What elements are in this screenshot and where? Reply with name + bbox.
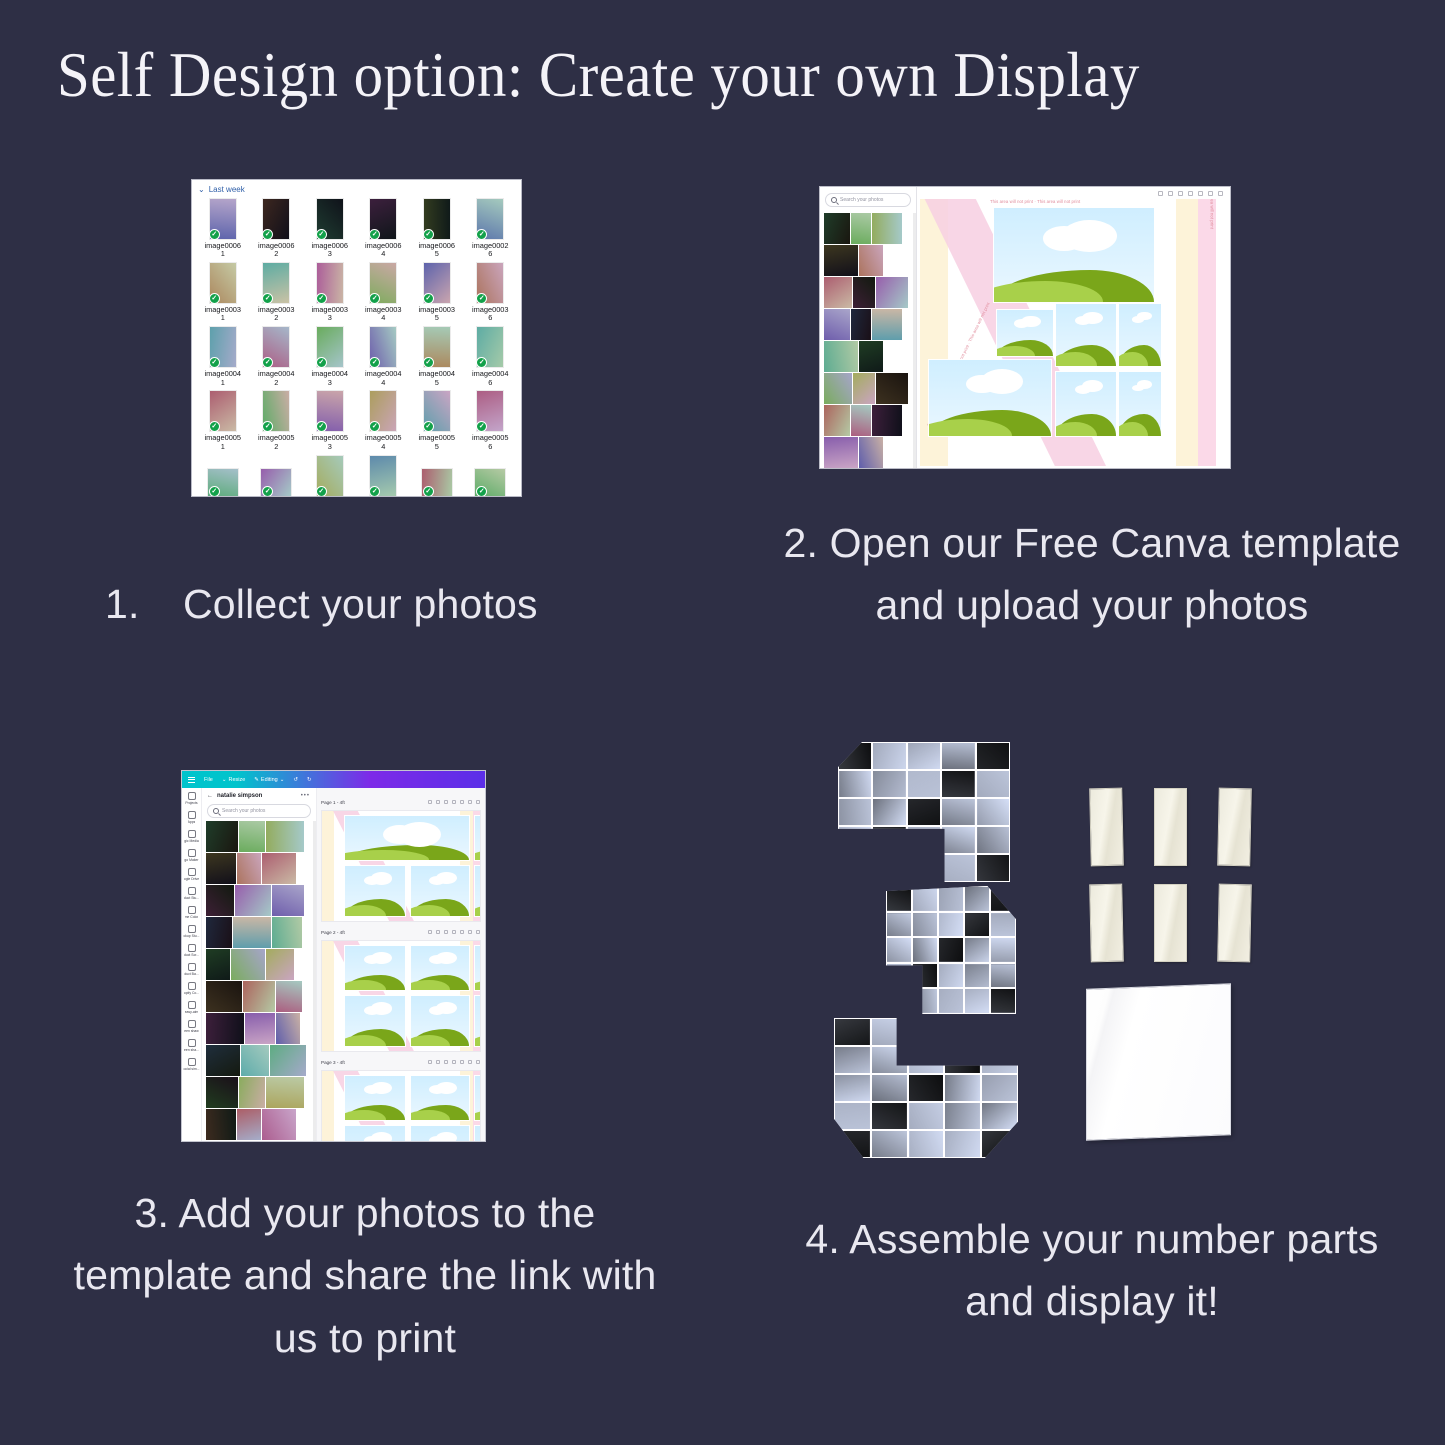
- collage-photo: [834, 1046, 871, 1074]
- photo-index: 4: [381, 314, 385, 323]
- photo-frame-placeholder[interactable]: [344, 865, 406, 917]
- thumbnail-wrapper[interactable]: [208, 261, 238, 303]
- thumbnail-wrapper[interactable]: [368, 454, 398, 496]
- uploaded-photo-thumbnail[interactable]: [851, 405, 871, 436]
- photo-grid-item[interactable]: image00042: [250, 325, 304, 387]
- page-toolbar[interactable]: [428, 930, 480, 934]
- rail-item[interactable]: ogle Drive: [182, 868, 201, 881]
- google-drive-icon: [188, 868, 196, 876]
- photo-grid-item[interactable]: image00026: [464, 197, 518, 259]
- thumbnail-wrapper[interactable]: [422, 325, 452, 367]
- photo-frame-placeholder[interactable]: [928, 359, 1052, 437]
- chevron-up-icon[interactable]: [428, 800, 432, 804]
- chevron-down-icon[interactable]: [436, 930, 440, 934]
- uploaded-photo-thumbnail[interactable]: [872, 213, 902, 244]
- photo-grid: image00061image00062image00063image00064…: [192, 196, 521, 497]
- collage-photo: [834, 1018, 871, 1046]
- photo-index: 4: [381, 379, 385, 388]
- uploaded-photo-thumbnail[interactable]: [872, 309, 902, 340]
- uploaded-photo-thumbnail[interactable]: [824, 373, 852, 404]
- lock-icon[interactable]: [452, 1060, 456, 1064]
- thumbnail-wrapper[interactable]: [422, 389, 452, 431]
- cloud-shape: [364, 1006, 380, 1015]
- duplicate-icon[interactable]: [460, 1060, 464, 1064]
- collage-photo: [981, 1046, 1018, 1074]
- photo-frame-placeholder[interactable]: [993, 207, 1155, 303]
- photo-index: 1: [221, 379, 225, 388]
- selected-check-icon: [316, 293, 327, 304]
- thumbnail-wrapper[interactable]: [315, 389, 345, 431]
- photo-frame-placeholder[interactable]: [410, 1125, 470, 1141]
- duplicate-icon[interactable]: [460, 800, 464, 804]
- collage-photo: [938, 886, 964, 912]
- uploaded-photo-thumbnail[interactable]: [233, 917, 271, 948]
- photo-frame-placeholder[interactable]: [1055, 303, 1117, 367]
- collage-photo: [912, 963, 938, 989]
- uploaded-photo-thumbnail[interactable]: [853, 277, 875, 308]
- photo-frame-placeholder[interactable]: [474, 945, 481, 991]
- uploaded-photo-thumbnail[interactable]: [824, 245, 858, 276]
- cloud-shape: [1043, 226, 1085, 250]
- selected-check-icon: [423, 229, 434, 240]
- collage-photo: [834, 1074, 871, 1102]
- collage-photo: [938, 937, 964, 963]
- rail-item[interactable]: duct Scr...: [182, 944, 201, 957]
- uploaded-photo-thumbnail[interactable]: [824, 341, 858, 372]
- thumbnail-wrapper[interactable]: [315, 197, 345, 239]
- canva-pages-area[interactable]: Page 1 - 4ftPage 2 - 4ftPage 3 - 4ft: [317, 788, 485, 1141]
- rail-item[interactable]: Apps: [182, 811, 201, 824]
- uploaded-photos-list[interactable]: [820, 213, 912, 468]
- cloud-shape: [1075, 316, 1091, 325]
- thumbnail-wrapper[interactable]: [368, 389, 398, 431]
- delete-icon[interactable]: [468, 800, 472, 804]
- selected-check-icon: [316, 486, 327, 497]
- collage-photo: [871, 1102, 908, 1130]
- resize-menu[interactable]: ⌄ Resize: [222, 777, 245, 783]
- undo-icon[interactable]: ↺: [293, 777, 298, 783]
- photo-index: 1: [221, 250, 225, 259]
- collage-photo: [907, 798, 941, 826]
- number-segment: [834, 1018, 1018, 1158]
- uploaded-photo-thumbnail[interactable]: [824, 437, 858, 468]
- hide-icon[interactable]: [444, 930, 448, 934]
- uploaded-photo-thumbnail[interactable]: [851, 213, 871, 244]
- collage-photo: [872, 770, 906, 798]
- thumbnail-wrapper[interactable]: [261, 197, 291, 239]
- search-placeholder: Search your photos: [840, 197, 883, 203]
- thumbnail-wrapper[interactable]: [261, 389, 291, 431]
- connector-part: [1089, 788, 1124, 867]
- collage-photo: [990, 937, 1016, 963]
- thumbnail-wrapper[interactable]: [475, 325, 505, 367]
- thumbnail-wrapper[interactable]: [422, 197, 452, 239]
- rail-item-label: een shaw: [184, 1029, 199, 1033]
- rail-item[interactable]: me Color: [182, 906, 201, 919]
- cloud-shape: [1075, 385, 1091, 394]
- panel-scrollbar[interactable]: [313, 821, 316, 1141]
- chevron-down-icon: ⌄: [280, 777, 285, 783]
- uploaded-photo-thumbnail[interactable]: [239, 821, 265, 852]
- uploaded-photo-thumbnail[interactable]: [206, 1077, 238, 1108]
- photo-grid-item[interactable]: image00036: [464, 261, 518, 323]
- thumbnail-wrapper[interactable]: [208, 325, 238, 367]
- photo-frame-placeholder[interactable]: [474, 1075, 481, 1121]
- chevron-down-icon[interactable]: [436, 1060, 440, 1064]
- cloud-shape: [364, 876, 380, 885]
- thumbnail-wrapper[interactable]: [315, 325, 345, 367]
- uploaded-photo-thumbnail[interactable]: [272, 885, 304, 916]
- uploaded-photo-thumbnail[interactable]: [262, 853, 296, 884]
- uploaded-photo-thumbnail[interactable]: [276, 1013, 300, 1044]
- uploaded-photo-thumbnail[interactable]: [241, 1045, 269, 1076]
- rail-item-label: Apps: [188, 820, 196, 824]
- collage-photo: [944, 1074, 981, 1102]
- expand-icon[interactable]: [1218, 191, 1223, 196]
- uploaded-photo-thumbnail[interactable]: [245, 1013, 275, 1044]
- thumbnail-wrapper[interactable]: [208, 454, 238, 496]
- template-design[interactable]: This area will not print · This area wil…: [920, 199, 1216, 466]
- delete-icon[interactable]: [468, 930, 472, 934]
- uploaded-photo-thumbnail[interactable]: [237, 1109, 261, 1140]
- group-header-label: Last week: [209, 185, 245, 194]
- thumbnail-wrapper[interactable]: [422, 261, 452, 303]
- step3-canva-editor-screenshot: File ⌄ Resize ✎ Editing ⌄ ↺ ↻ ProjectsAp…: [181, 770, 486, 1142]
- collage-photo: [838, 798, 872, 826]
- thumbnail-wrapper[interactable]: [475, 454, 505, 496]
- canva-side-rail[interactable]: ProjectsAppsgic Mediago Makerogle Drived…: [182, 788, 202, 1141]
- rail-item[interactable]: go Maker: [182, 849, 201, 862]
- photo-grid-item[interactable]: image00005: [410, 454, 464, 498]
- collage-photo: [976, 798, 1010, 826]
- uploaded-photo-thumbnail[interactable]: [859, 341, 883, 372]
- chevron-down-icon[interactable]: ⌄: [198, 186, 205, 194]
- thumbnail-wrapper[interactable]: [261, 454, 291, 496]
- uploaded-photo-thumbnail[interactable]: [851, 309, 871, 340]
- number-segment: [886, 886, 1016, 1014]
- collage-photo: [912, 988, 938, 1014]
- number-segment: [838, 742, 1010, 882]
- panel-scrollbar[interactable]: [913, 213, 916, 468]
- photo-grid-item[interactable]: image00054: [357, 389, 411, 451]
- photo-grid-item[interactable]: image00045: [410, 325, 464, 387]
- uploaded-photos-list[interactable]: [202, 821, 312, 1141]
- uploaded-photo-thumbnail[interactable]: [206, 1045, 240, 1076]
- uploaded-photo-thumbnail[interactable]: [239, 1077, 265, 1108]
- photo-frame-placeholder[interactable]: [474, 865, 481, 917]
- thumbnail-wrapper[interactable]: [368, 261, 398, 303]
- expand-icon[interactable]: [476, 930, 480, 934]
- step-3-caption: 3. Add your photos to the template and s…: [55, 1182, 675, 1369]
- delete-icon[interactable]: [1208, 191, 1213, 196]
- uploaded-photo-thumbnail[interactable]: [266, 1077, 304, 1108]
- photo-frame-placeholder[interactable]: [474, 1125, 481, 1141]
- hill-shape: [474, 1110, 481, 1120]
- photo-frame-placeholder[interactable]: [344, 1075, 406, 1121]
- rail-item-label: me Color: [185, 915, 199, 919]
- duplicate-icon[interactable]: [460, 930, 464, 934]
- photo-frame-placeholder[interactable]: [344, 1125, 406, 1141]
- page-label: Page 3 - 4ft: [321, 1060, 345, 1065]
- cloud-shape: [429, 1136, 445, 1141]
- photo-grid-item[interactable]: image00053: [303, 389, 357, 451]
- rail-item[interactable]: ocial sim...: [182, 1058, 201, 1071]
- rail-item[interactable]: duct Stu...: [182, 887, 201, 900]
- uploaded-photo-thumbnail[interactable]: [859, 245, 883, 276]
- lock-icon[interactable]: [452, 930, 456, 934]
- photo-index: 3: [328, 443, 332, 452]
- collage-photo: [938, 912, 964, 938]
- thumbnail-wrapper[interactable]: [475, 261, 505, 303]
- collage-photo: [944, 1018, 981, 1046]
- rail-item[interactable]: een sha...: [182, 1039, 201, 1052]
- thumbnail-wrapper[interactable]: [208, 389, 238, 431]
- editing-menu[interactable]: ✎ Editing ⌄: [254, 777, 284, 783]
- thumbnail-wrapper[interactable]: [475, 389, 505, 431]
- uploaded-photo-thumbnail[interactable]: [853, 373, 875, 404]
- chevron-up-icon[interactable]: [428, 930, 432, 934]
- hamburger-icon[interactable]: [188, 777, 195, 783]
- connector-part: [1154, 884, 1187, 962]
- collage-photo: [912, 912, 938, 938]
- uploaded-photo-thumbnail[interactable]: [206, 821, 238, 852]
- uploaded-photo-thumbnail[interactable]: [243, 981, 275, 1012]
- photo-grid-item[interactable]: image00061: [196, 197, 250, 259]
- photo-grid-item[interactable]: image00043: [303, 325, 357, 387]
- uploaded-photo-thumbnail[interactable]: [266, 821, 304, 852]
- bleed-band-left: [322, 1071, 334, 1141]
- collage-photo: [908, 1130, 945, 1158]
- photo-grid-item[interactable]: image00002: [250, 454, 304, 498]
- expand-icon[interactable]: [476, 800, 480, 804]
- uploaded-photo-thumbnail[interactable]: [266, 949, 294, 980]
- collage-photo: [990, 963, 1016, 989]
- expand-icon[interactable]: [476, 1060, 480, 1064]
- uploaded-photo-thumbnail[interactable]: [231, 949, 265, 980]
- collage-photo: [944, 1046, 981, 1074]
- photo-frame-placeholder[interactable]: [996, 309, 1054, 357]
- thumbnail-wrapper[interactable]: [208, 197, 238, 239]
- uploaded-photo-thumbnail[interactable]: [206, 885, 234, 916]
- uploaded-photo-thumbnail[interactable]: [876, 373, 908, 404]
- more-options-icon[interactable]: •••: [301, 793, 310, 799]
- uploaded-photo-thumbnail[interactable]: [237, 853, 261, 884]
- rail-item[interactable]: Projects: [182, 792, 201, 805]
- photo-grid-item[interactable]: image00062: [250, 197, 304, 259]
- page-label: Page 2 - 4ft: [321, 930, 345, 935]
- thumbnail-wrapper[interactable]: [475, 197, 505, 239]
- uploaded-photo-thumbnail[interactable]: [872, 405, 902, 436]
- uploaded-photo-thumbnail[interactable]: [235, 885, 271, 916]
- page-title: Self Design option: Create your own Disp…: [57, 38, 1140, 112]
- rail-item-label: duct Stu...: [184, 896, 199, 900]
- thumbnail-wrapper[interactable]: [315, 454, 345, 496]
- lock-icon[interactable]: [1188, 191, 1193, 196]
- photo-frame-placeholder[interactable]: [410, 1075, 470, 1121]
- uploaded-photo-thumbnail[interactable]: [824, 405, 850, 436]
- chevron-up-icon[interactable]: [1158, 191, 1163, 196]
- file-menu[interactable]: File: [204, 777, 213, 783]
- photo-grid-item[interactable]: image00032: [250, 261, 304, 323]
- photo-frame-placeholder[interactable]: [344, 815, 470, 861]
- collage-photo: [886, 886, 912, 912]
- step-1-caption: 1.Collect your photos: [60, 573, 680, 635]
- rail-item[interactable]: easy-aim: [182, 1001, 201, 1014]
- chevron-down-icon[interactable]: [436, 800, 440, 804]
- photo-index: 3: [328, 379, 332, 388]
- back-arrow-icon[interactable]: ←: [207, 793, 213, 799]
- rail-item[interactable]: een shaw: [182, 1020, 201, 1033]
- photo-index: 2: [274, 250, 278, 259]
- photo-frame-placeholder[interactable]: [410, 945, 470, 991]
- uploaded-photo-thumbnail[interactable]: [206, 1013, 244, 1044]
- uploaded-photo-thumbnail[interactable]: [206, 1109, 236, 1140]
- uploaded-photo-thumbnail[interactable]: [824, 277, 852, 308]
- photo-grid-item[interactable]: image00056: [464, 389, 518, 451]
- uploaded-photo-thumbnail[interactable]: [206, 917, 232, 948]
- uploaded-photo-thumbnail[interactable]: [270, 1045, 306, 1076]
- collage-photo: [964, 988, 990, 1014]
- chevron-up-icon[interactable]: [428, 1060, 432, 1064]
- photo-frame-placeholder[interactable]: [1055, 371, 1117, 437]
- thumbnail-wrapper[interactable]: [368, 197, 398, 239]
- poster-canvas: Self Design option: Create your own Disp…: [0, 0, 1445, 1445]
- rail-item-label: duct Scr...: [184, 953, 199, 957]
- rail-item-label: een sha...: [184, 1048, 199, 1052]
- cloud-shape: [383, 825, 416, 844]
- cloud-shape: [364, 1085, 380, 1094]
- collage-photo: [871, 1074, 908, 1102]
- uploaded-photo-thumbnail[interactable]: [262, 1109, 296, 1140]
- connector-part: [1089, 884, 1124, 963]
- uploaded-photo-thumbnail[interactable]: [206, 949, 230, 980]
- photo-grid-item[interactable]: image00051: [196, 389, 250, 451]
- canva-top-toolbar: File ⌄ Resize ✎ Editing ⌄ ↺ ↻: [182, 771, 485, 788]
- collage-photo: [976, 770, 1010, 798]
- collage-photo: [941, 742, 975, 770]
- collage-photo: [886, 963, 912, 989]
- photo-frame-placeholder[interactable]: [474, 815, 481, 861]
- thumbnail-wrapper[interactable]: [261, 325, 291, 367]
- photo-frame-placeholder[interactable]: [474, 995, 481, 1047]
- step4-product-photo: [828, 740, 1268, 1160]
- collage-photo: [871, 1130, 908, 1158]
- page-toolbar[interactable]: [428, 800, 480, 804]
- design-page[interactable]: [321, 810, 481, 922]
- photo-grid-item[interactable]: image00034: [357, 261, 411, 323]
- cloud-shape: [429, 955, 445, 964]
- photo-grid-item[interactable]: image00003: [303, 454, 357, 498]
- photo-grid-item[interactable]: image00004: [357, 454, 411, 498]
- step-2-caption: 2. Open our Free Canva template and uplo…: [772, 512, 1412, 637]
- collage-photo: [964, 963, 990, 989]
- photo-grid-item[interactable]: image00031: [196, 261, 250, 323]
- search-input[interactable]: Search your photos: [207, 804, 311, 818]
- search-input[interactable]: Search your photos: [825, 193, 911, 207]
- photo-grid-item[interactable]: image00065: [410, 197, 464, 259]
- step-4-caption: 4. Assemble your number parts and displa…: [772, 1208, 1412, 1333]
- rail-item[interactable]: gic Media: [182, 830, 201, 843]
- photo-index: 2: [274, 379, 278, 388]
- cloud-shape: [1132, 385, 1143, 392]
- photo-grid-item[interactable]: image00063: [303, 197, 357, 259]
- uploaded-photo-thumbnail[interactable]: [206, 853, 236, 884]
- thumbnail-wrapper[interactable]: [422, 454, 452, 496]
- photo-grid-item[interactable]: image00055: [410, 389, 464, 451]
- chevron-down-icon[interactable]: [1168, 191, 1173, 196]
- uploaded-photo-thumbnail[interactable]: [824, 213, 850, 244]
- thumbnail-wrapper[interactable]: [261, 261, 291, 303]
- rail-item-label: duct Ba...: [184, 972, 198, 976]
- thumbnail-wrapper[interactable]: [368, 325, 398, 367]
- uploaded-photo-thumbnail[interactable]: [859, 437, 883, 468]
- photo-frame-placeholder[interactable]: [1118, 303, 1162, 367]
- uploaded-photo-thumbnail[interactable]: [276, 981, 302, 1012]
- rail-item[interactable]: opify Co...: [182, 982, 201, 995]
- photo-grid-item[interactable]: image00001: [196, 454, 250, 498]
- photo-grid-item[interactable]: image00035: [410, 261, 464, 323]
- photo-grid-item[interactable]: image00064: [357, 197, 411, 259]
- cloud-shape: [1014, 319, 1029, 328]
- rail-item-label: Projects: [185, 801, 197, 805]
- easy-aim-icon: [188, 1001, 196, 1009]
- design-page[interactable]: [321, 940, 481, 1052]
- canva-uploads-panel: Search your photos: [820, 187, 917, 468]
- page-toolbar[interactable]: [428, 1060, 480, 1064]
- photo-grid-item[interactable]: image00041: [196, 325, 250, 387]
- hide-icon[interactable]: [444, 1060, 448, 1064]
- photo-frame-placeholder[interactable]: [410, 865, 470, 917]
- group-header[interactable]: ⌄ Last week: [192, 180, 521, 196]
- photo-frame-placeholder[interactable]: [344, 945, 406, 991]
- photo-frame-placeholder[interactable]: [344, 995, 406, 1047]
- uploaded-photo-thumbnail[interactable]: [876, 277, 908, 308]
- design-page[interactable]: [321, 1070, 481, 1141]
- photo-frame-placeholder[interactable]: [410, 995, 470, 1047]
- photo-index: 5: [435, 379, 439, 388]
- redo-icon[interactable]: ↻: [307, 777, 312, 783]
- pencil-icon: ✎: [254, 777, 259, 783]
- rail-item[interactable]: ckup Stu...: [182, 925, 201, 938]
- photo-frame-placeholder[interactable]: [1118, 371, 1162, 437]
- photo-grid-item[interactable]: image00052: [250, 389, 304, 451]
- thumbnail-wrapper[interactable]: [315, 261, 345, 303]
- selected-check-icon: [262, 486, 273, 497]
- photo-grid-item[interactable]: image00006: [464, 454, 518, 498]
- hide-icon[interactable]: [444, 800, 448, 804]
- delete-icon[interactable]: [468, 1060, 472, 1064]
- collage-photo: [981, 1130, 1018, 1158]
- photo-grid-item[interactable]: image00044: [357, 325, 411, 387]
- uploaded-photo-thumbnail[interactable]: [206, 981, 242, 1012]
- selected-check-icon: [209, 357, 220, 368]
- hide-icon[interactable]: [1178, 191, 1183, 196]
- duplicate-icon[interactable]: [1198, 191, 1203, 196]
- lock-icon[interactable]: [452, 800, 456, 804]
- apps-icon: [188, 811, 196, 819]
- photo-grid-item[interactable]: image00046: [464, 325, 518, 387]
- number-3-collage: [828, 740, 1058, 1160]
- selected-check-icon: [476, 486, 487, 497]
- collage-photo: [908, 1074, 945, 1102]
- collage-photo: [838, 854, 872, 882]
- uploaded-photo-thumbnail[interactable]: [272, 917, 302, 948]
- rail-item[interactable]: duct Ba...: [182, 963, 201, 976]
- photo-grid-item[interactable]: image00033: [303, 261, 357, 323]
- folder-header[interactable]: ← natalie simpson •••: [202, 788, 316, 801]
- collage-photo: [907, 742, 941, 770]
- uploaded-photo-thumbnail[interactable]: [824, 309, 850, 340]
